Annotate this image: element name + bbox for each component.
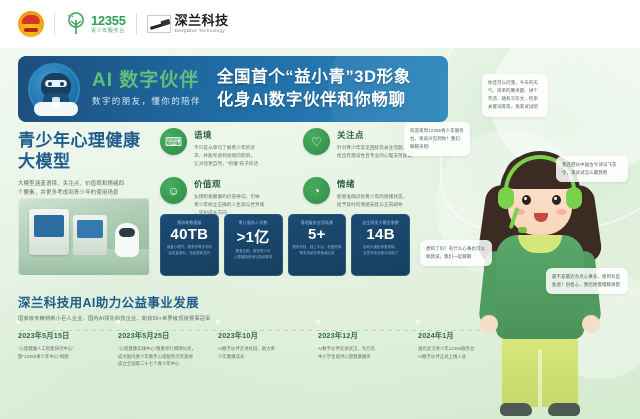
bubble-poem: 我还擅长中国古今诗词飞花令，来试试怎么赢我吧 xyxy=(556,156,628,182)
chat-bubble-glyph: ⌨ xyxy=(160,128,187,155)
stat-desc-line2: 等多场景协同落地应用 xyxy=(299,251,334,255)
poster-canvas: 12355 青少年服务台 深兰科技 DeepBlue Technology AI… xyxy=(0,0,640,419)
feature-desc-line1: 针对青少年常见困扰及关注话题， xyxy=(337,145,407,150)
stat-desc: 服务热线、线上平台、校园终端 等多场景协同落地应用 xyxy=(292,245,341,256)
character-shoe-left xyxy=(500,403,532,416)
logo-12355-subtitle: 青少年服务台 xyxy=(91,29,126,34)
timeline-body-line1: AI数字伙伴走进武汉，为万名 xyxy=(318,346,375,351)
timeline-body-line2: 成为国内青少年数字心理服务示范基地 xyxy=(118,354,193,359)
character-eye-left xyxy=(522,195,531,205)
stat-desc-line1: 覆盖全国，服务青少年 xyxy=(236,249,271,253)
hero-headline-line1: 全国首个“益小青”3D形象 xyxy=(217,68,411,87)
stat-desc: 涵盖心理学、教育学等多学科 高质量语料，持续更新迭代 xyxy=(167,245,212,256)
feature-item-values: ☺ 价值观 弘扬积极健康的价值导向，引导 青少年树立正确的人生观与世界观 ，守护… xyxy=(160,177,289,216)
stat-card-parameters: 自主研发大模型参数 14B 自研大模型参数规模， 支撑多轮深度对话能力 xyxy=(351,214,410,276)
stat-desc-line2: 高质量语料，持续更新迭代 xyxy=(168,251,210,255)
character-hand-right xyxy=(582,315,600,333)
heart-hand-icon: ♡ xyxy=(303,128,330,155)
character-blush-right xyxy=(556,209,567,215)
stat-card-service-count: 累计服务人次数 >1亿 覆盖全国，服务青少年 心理健康咨询与陪伴需求 xyxy=(224,214,283,276)
company-name-en: DeepBlue Technology xyxy=(175,29,229,34)
stat-desc-line1: 服务热线、线上平台、校园终端 xyxy=(292,245,341,249)
timeline-body-line1: “心理健康人工智能研究中心” xyxy=(18,346,74,351)
model-description-line2: 个要素，并更多考虑到青少年的使用场景 xyxy=(18,189,158,198)
feature-item-context: ⌨ 语境 不只是从单句了解青少年的诉 求，并能考虑到语境的影响， 让对话更自然，… xyxy=(160,128,289,167)
bubble-capabilities: 你还可以问我，今天的天气、简单的算术题、讲个笑话、随机写作文、检索关键词等等，快… xyxy=(482,74,548,117)
character-shoe-right xyxy=(548,403,580,416)
stat-value: 14B xyxy=(366,226,394,243)
hero-headline-line2: 化身AI数字伙伴和你畅聊 xyxy=(217,91,411,110)
feature-desc-line1: 能够准确识别青少年的情绪状态， xyxy=(337,194,407,199)
timeline-body-line1: “心理健康实践中心”隆重举行揭牌仪式， xyxy=(118,346,196,351)
model-description-line1: 大模型涵盖语境、关注点、价值观和情绪四 xyxy=(18,180,158,189)
stat-desc: 自研大模型参数规模， 支撑多轮深度对话能力 xyxy=(363,245,398,256)
stat-desc-line2: 心理健康咨询与陪伴需求 xyxy=(234,255,272,259)
smiley-glyph: ◔ xyxy=(303,177,330,204)
deepblue-mark-icon xyxy=(147,15,171,33)
photo-panda-robot xyxy=(115,223,139,257)
timeline-body: AI数字伙伴走进校园，助力青 少年健康成长 xyxy=(218,345,308,360)
timeline-subtitle: 国家级专精特新小巨人企业、国内AI领先科技企业、斩获50+世界级顶级赛事冠军 xyxy=(18,315,438,322)
page-title-line2: 大模型 xyxy=(18,151,158,172)
page-title-line1: 青少年心理健康 xyxy=(18,130,158,151)
stat-label: 预训练数据量 xyxy=(177,220,202,225)
person-shield-icon: ☺ xyxy=(160,177,187,204)
photo-kiosk-left xyxy=(29,209,69,255)
headset-earcup-left xyxy=(498,187,514,209)
timeline-item: 2023年12月 AI数字伙伴走进武汉，为万名 中小学生提供心理健康服务 xyxy=(318,322,418,368)
hero-banner: AI 数字伙伴 数字的朋友，懂你的陪伴 全国首个“益小青”3D形象 化身AI数字… xyxy=(18,56,448,122)
timeline-date: 2023年10月 xyxy=(218,331,308,341)
timeline-body: “心理健康实践中心”隆重举行揭牌仪式， 成为国内青少年数字心理服务示范基地 成立… xyxy=(118,345,208,368)
page-title: 青少年心理健康 大模型 xyxy=(18,130,158,173)
stat-card-scenarios: 落地服务应用场景 5+ 服务热线、线上平台、校园终端 等多场景协同落地应用 xyxy=(288,214,347,276)
timeline-title: 深兰科技用AI助力公益事业发展 xyxy=(18,292,438,311)
timeline-body: “心理健康人工智能研究中心” 暨“12355青少年中心”揭牌 xyxy=(18,345,108,360)
stat-desc: 覆盖全国，服务青少年 心理健康咨询与陪伴需求 xyxy=(234,249,272,260)
feature-desc-line1: 弘扬积极健康的价值导向，引导 xyxy=(194,194,260,199)
feature-desc: 针对青少年常见困扰及关注话题， 给出有建设性且专业的心理支持建议 xyxy=(337,144,412,160)
model-section: 青少年心理健康 大模型 大模型涵盖语境、关注点、价值观和情绪四 个要素，并更多考… xyxy=(18,130,158,198)
divider xyxy=(136,13,137,35)
timeline-body-line2: 中小学生提供心理健康服务 xyxy=(318,354,371,359)
feature-desc: 不只是从单句了解青少年的诉 求，并能考虑到语境的影响， 让对话更自然，“听懂”孩… xyxy=(194,144,258,167)
feature-name: 关注点 xyxy=(337,129,412,141)
brand-subtitle: 数字的朋友，懂你的陪伴 xyxy=(92,95,201,107)
person-glyph: ☺ xyxy=(160,177,187,204)
feature-desc-line3: 让对话更自然，“听懂”孩子的话 xyxy=(194,161,258,166)
bubble-welcome: 欢迎来到12355青少年服务台，很高兴见到你！我们聊聊天吧! xyxy=(404,122,470,156)
feature-name: 情绪 xyxy=(337,178,407,190)
timeline-body-line2: 暨“12355青少年中心”揭牌 xyxy=(18,354,69,359)
mascot-eyes xyxy=(45,80,67,87)
logo-deepblue: 深兰科技 DeepBlue Technology xyxy=(147,14,229,34)
stat-value: >1亿 xyxy=(237,226,270,247)
photo-kiosk-right xyxy=(73,215,107,255)
headset-mic-tip xyxy=(518,227,527,233)
stat-label: 累计服务人次数 xyxy=(239,220,268,225)
character-hand-left xyxy=(480,315,498,333)
timeline-body-line2: 少年健康成长 xyxy=(218,354,244,359)
stat-value: 40TB xyxy=(170,226,208,243)
feature-desc-line2: 青少年树立正确的人生观与世界观 xyxy=(194,202,264,207)
chat-bubble-icon: ⌨ xyxy=(160,128,187,155)
timeline-body: AI数字伙伴走进武汉，为万名 中小学生提供心理健康服务 xyxy=(318,345,408,360)
timeline-body-line1: AI数字伙伴走进校园，助力青 xyxy=(218,346,275,351)
stat-desc-line2: 支撑多轮深度对话能力 xyxy=(363,251,398,255)
ccyl-emblem-icon xyxy=(18,11,44,37)
bubble-emotion: 最不是最近有点心事多，感到有些焦虑？别担心，我陪你慢慢聊清楚 xyxy=(546,268,628,294)
panda-mascot-icon xyxy=(28,63,80,115)
brand-block: AI 数字伙伴 数字的朋友，懂你的陪伴 xyxy=(92,71,201,107)
model-description: 大模型涵盖语境、关注点、价值观和情绪四 个要素，并更多考虑到青少年的使用场景 xyxy=(18,180,158,199)
stat-card-row: 预训练数据量 40TB 涵盖心理学、教育学等多学科 高质量语料，持续更新迭代 累… xyxy=(160,214,410,276)
kiosk-photo xyxy=(18,198,150,276)
stat-label: 落地服务应用场景 xyxy=(301,220,334,225)
heart-glyph: ♡ xyxy=(303,128,330,155)
timeline-date: 2023年5月25日 xyxy=(118,331,208,341)
logo-bar: 12355 青少年服务台 深兰科技 DeepBlue Technology xyxy=(0,0,640,48)
timeline-list: 2023年5月15日 “心理健康人工智能研究中心” 暨“12355青少年中心”揭… xyxy=(18,322,518,368)
timeline-date: 2023年12月 xyxy=(318,331,408,341)
feature-desc: 能够准确识别青少年的情绪状态， 给予及时的情绪安抚与正向疏导 xyxy=(337,193,407,209)
timeline-item: 2023年10月 AI数字伙伴走进校园，助力青 少年健康成长 xyxy=(218,322,318,368)
character-pants xyxy=(502,333,578,407)
headset-earcup-right xyxy=(566,187,582,209)
logo-12355-number: 12355 xyxy=(91,14,126,27)
brand-title: AI 数字伙伴 xyxy=(92,71,201,91)
divider xyxy=(54,13,55,35)
stat-desc-line1: 涵盖心理学、教育学等多学科 xyxy=(167,245,212,249)
timeline-item: 2023年5月25日 “心理健康实践中心”隆重举行揭牌仪式， 成为国内青少年数字… xyxy=(118,322,218,368)
feature-desc-line2: 给出有建设性且专业的心理支持建议 xyxy=(337,153,412,158)
stat-desc-line1: 自研大模型参数规模， xyxy=(363,245,398,249)
logo-12355: 12355 青少年服务台 xyxy=(65,12,126,36)
stat-label: 自主研发大模型参数 xyxy=(362,220,399,225)
tree-icon xyxy=(65,12,87,36)
timeline-date: 2023年5月15日 xyxy=(18,331,108,341)
hero-headline: 全国首个“益小青”3D形象 化身AI数字伙伴和你畅聊 xyxy=(217,68,411,110)
company-name-cn: 深兰科技 xyxy=(175,14,229,27)
stat-value: 5+ xyxy=(308,226,326,243)
feature-desc-line2: 给予及时的情绪安抚与正向疏导 xyxy=(337,202,403,207)
smiley-face-icon: ◔ xyxy=(303,177,330,204)
bubble-talk: 想和了吗？有什么心事也可以和我说，我们一起聊聊 xyxy=(420,240,492,266)
timeline-body-line3: 成立全国第二十七个青少年中心 xyxy=(118,361,180,366)
feature-desc-line1: 不只是从单句了解青少年的诉 xyxy=(194,145,255,150)
feature-name: 价值观 xyxy=(194,178,264,190)
feature-grid: ⌨ 语境 不只是从单句了解青少年的诉 求，并能考虑到语境的影响， 让对话更自然，… xyxy=(160,128,432,217)
feature-item-emotion: ◔ 情绪 能够准确识别青少年的情绪状态， 给予及时的情绪安抚与正向疏导 xyxy=(303,177,432,216)
timeline-header: 深兰科技用AI助力公益事业发展 国家级专精特新小巨人企业、国内AI领先科技企业、… xyxy=(18,292,438,322)
character-eye-right xyxy=(552,195,561,205)
stat-card-data-volume: 预训练数据量 40TB 涵盖心理学、教育学等多学科 高质量语料，持续更新迭代 xyxy=(160,214,219,276)
mascot-cloud xyxy=(34,102,78,116)
feature-desc-line2: 求，并能考虑到语境的影响， xyxy=(194,153,255,158)
feature-name: 语境 xyxy=(194,129,258,141)
timeline-item: 2023年5月15日 “心理健康人工智能研究中心” 暨“12355青少年中心”揭… xyxy=(18,322,118,368)
